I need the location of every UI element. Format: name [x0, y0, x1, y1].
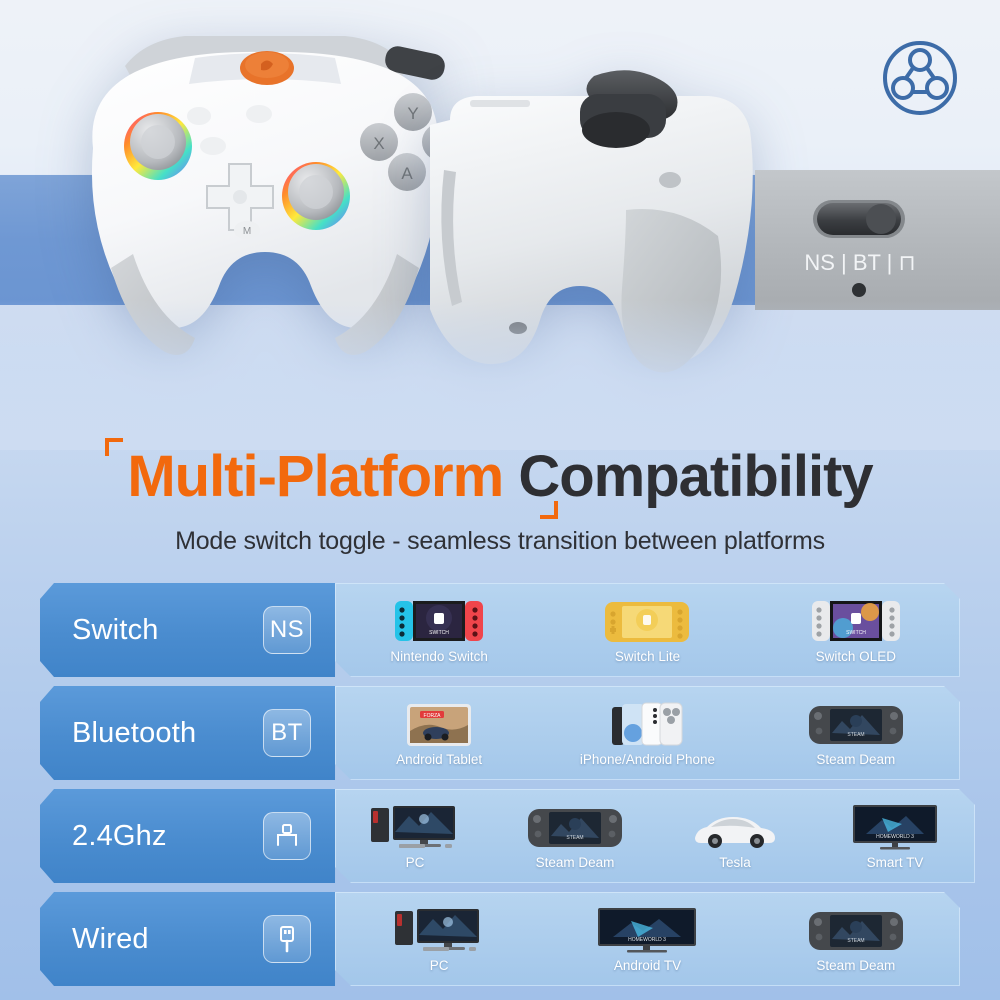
- device-label: Nintendo Switch: [390, 649, 488, 664]
- svg-text:FORZA: FORZA: [424, 713, 442, 719]
- svg-text:STEAM: STEAM: [847, 732, 864, 738]
- steam-deck-icon: STEAM: [527, 802, 623, 850]
- page-title: Multi-Platform Compatibility: [127, 448, 872, 506]
- svg-text:SWITCH: SWITCH: [846, 630, 866, 636]
- hero-fade-overlay: [0, 300, 1000, 450]
- product-infographic-page: Y X B A M: [0, 0, 1000, 1000]
- row-label: Switch: [72, 614, 263, 647]
- subheadline: Mode switch toggle - seamless transition…: [0, 527, 1000, 556]
- bracket-top-left-icon: [105, 438, 123, 456]
- row-label-card-switch[interactable]: Switch NS: [40, 583, 335, 677]
- svg-text:HOMEWORLD 3: HOMEWORLD 3: [876, 834, 914, 840]
- device-item[interactable]: STEAM Steam Deam: [776, 905, 936, 973]
- usb-plug-icon: [263, 915, 311, 963]
- device-panel-24ghz: PC STEAM Steam Deam: [335, 789, 975, 883]
- device-item[interactable]: PC: [359, 905, 519, 973]
- svg-text:A: A: [401, 164, 413, 183]
- device-item[interactable]: iPhone/Android Phone: [567, 699, 727, 767]
- svg-text:Y: Y: [407, 104, 418, 123]
- headline-block: Multi-Platform Compatibility: [0, 448, 1000, 506]
- mode-switch-label: NS | BT | ⊓: [804, 250, 915, 275]
- svg-text:X: X: [373, 134, 384, 153]
- tablet-icon: FORZA: [406, 699, 472, 747]
- device-label: Tesla: [719, 855, 751, 870]
- switch-lite-icon: [604, 596, 690, 644]
- device-item[interactable]: SWITCH Switch OLED: [776, 596, 936, 664]
- hero-section: Y X B A M: [0, 0, 1000, 440]
- steam-deck-icon: STEAM: [808, 699, 904, 747]
- usb-dongle-icon: [263, 812, 311, 860]
- device-panel-wired: PC HOMEWORLD 3 Andro: [335, 892, 960, 986]
- desktop-pc-icon: [393, 905, 485, 953]
- device-item[interactable]: PC: [335, 802, 495, 870]
- device-item[interactable]: HOMEWORLD 3 Smart TV: [815, 802, 975, 870]
- bracket-bottom-right-icon: [540, 501, 558, 519]
- row-label-card-wired[interactable]: Wired: [40, 892, 335, 986]
- device-item[interactable]: STEAM Steam Deam: [776, 699, 936, 767]
- row-label-card-24ghz[interactable]: 2.4Ghz: [40, 789, 335, 883]
- tesla-car-icon: [691, 802, 779, 850]
- device-panel-bluetooth: FORZA Android Tablet: [335, 686, 960, 780]
- share-nodes-icon: [870, 28, 970, 128]
- device-panel-switch: SWITCH Nintendo Switch: [335, 583, 960, 677]
- row-label: 2.4Ghz: [72, 820, 263, 853]
- device-label: iPhone/Android Phone: [580, 752, 715, 767]
- headline-rest: Compatibility: [518, 444, 872, 509]
- svg-text:M: M: [243, 226, 251, 237]
- device-item[interactable]: FORZA Android Tablet: [359, 699, 519, 767]
- device-item[interactable]: STEAM Steam Deam: [495, 802, 655, 870]
- device-label: Steam Deam: [816, 958, 895, 973]
- svg-text:STEAM: STEAM: [847, 938, 864, 944]
- device-item[interactable]: SWITCH Nintendo Switch: [359, 596, 519, 664]
- device-label: PC: [430, 958, 449, 973]
- device-label: Android TV: [614, 958, 681, 973]
- device-item[interactable]: Switch Lite: [567, 596, 727, 664]
- svg-text:STEAM: STEAM: [566, 835, 583, 841]
- compatibility-table: Switch NS SWITCH: [40, 583, 960, 995]
- table-row: Switch NS SWITCH: [40, 583, 960, 677]
- device-label: Switch Lite: [615, 649, 680, 664]
- row-label-card-bluetooth[interactable]: Bluetooth BT: [40, 686, 335, 780]
- smart-tv-icon: HOMEWORLD 3: [597, 905, 697, 953]
- device-label: Smart TV: [867, 855, 924, 870]
- table-row: Wired: [40, 892, 960, 986]
- bt-text-badge: BT: [263, 709, 311, 757]
- device-label: Steam Deam: [536, 855, 615, 870]
- row-label: Bluetooth: [72, 717, 263, 750]
- device-label: PC: [406, 855, 425, 870]
- svg-text:SWITCH: SWITCH: [429, 630, 449, 636]
- device-item[interactable]: HOMEWORLD 3 Android TV: [567, 905, 727, 973]
- device-label: Switch OLED: [816, 649, 896, 664]
- device-item[interactable]: Tesla: [655, 802, 815, 870]
- switch-oled-icon: SWITCH: [810, 596, 902, 644]
- ns-text-badge: NS: [263, 606, 311, 654]
- device-label: Steam Deam: [816, 752, 895, 767]
- steam-deck-icon: STEAM: [808, 905, 904, 953]
- smart-tv-icon: HOMEWORLD 3: [852, 802, 938, 850]
- desktop-pc-icon: [369, 802, 461, 850]
- mode-switch-plate: NS | BT | ⊓: [755, 170, 1000, 310]
- phones-icon: [610, 699, 684, 747]
- switch-console-icon: SWITCH: [393, 596, 485, 644]
- svg-text:HOMEWORLD 3: HOMEWORLD 3: [629, 937, 667, 943]
- headline-highlight: Multi-Platform: [127, 444, 503, 509]
- device-label: Android Tablet: [396, 752, 482, 767]
- row-label: Wired: [72, 923, 263, 956]
- table-row: 2.4Ghz: [40, 789, 960, 883]
- table-row: Bluetooth BT FORZA: [40, 686, 960, 780]
